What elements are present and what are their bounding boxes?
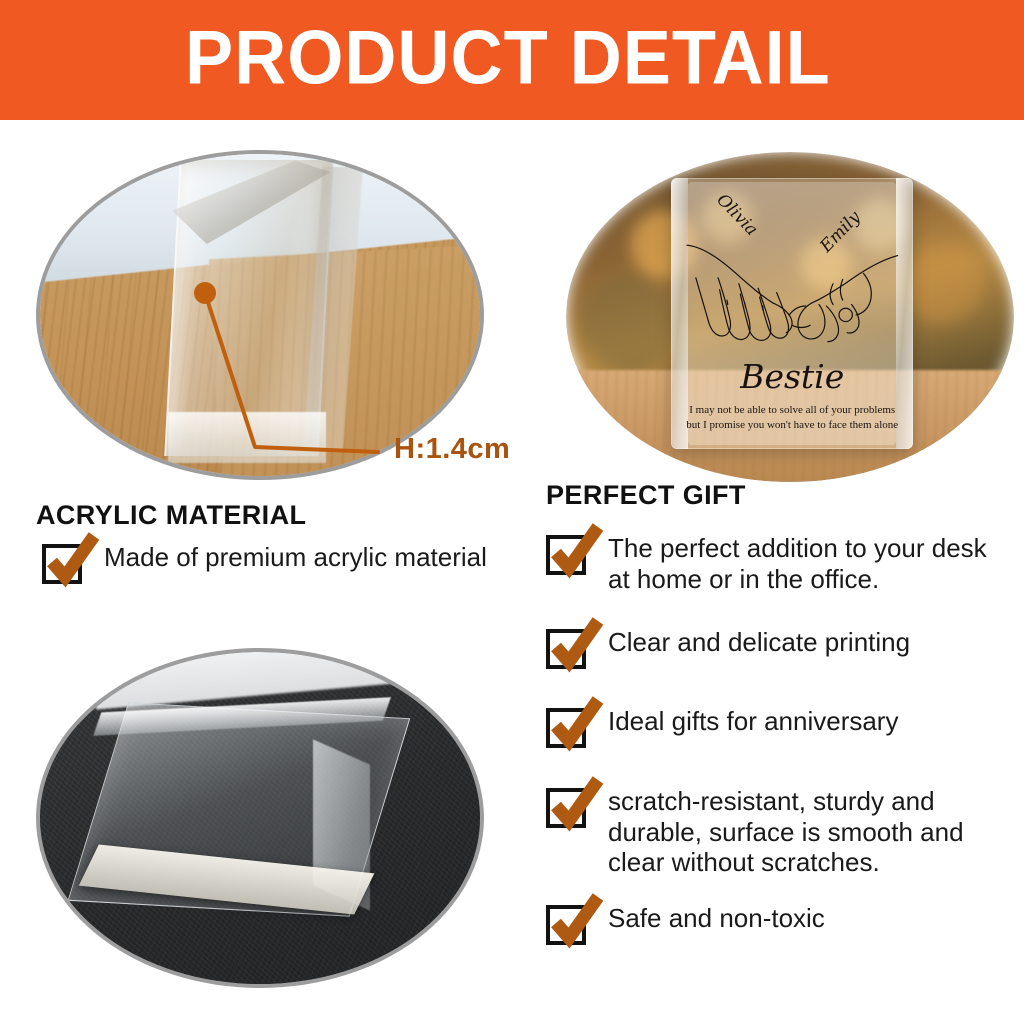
photo-inner-engraved: Olivia Emily [566,152,1014,482]
checkmark-icon [546,696,604,754]
checkbox-checked-icon [546,905,586,945]
engraved-quote-line-1: I may not be able to solve all of your p… [679,403,906,418]
checkbox-checked-icon [546,535,586,575]
section-heading-perfect-gift: PERFECT GIFT [546,480,746,511]
list-item: Made of premium acrylic material [42,542,532,584]
engraved-scene: Olivia Emily [566,152,1014,482]
section-heading-acrylic-material: ACRYLIC MATERIAL [36,500,306,531]
engraved-block: Olivia Emily [671,178,913,449]
list-item-label: scratch-resistant, sturdy and durable, s… [608,786,1016,878]
header-banner: PRODUCT DETAIL [0,0,1024,120]
product-detail-infographic: PRODUCT DETAIL H:1.4cm [0,0,1024,1024]
list-item-label: Ideal gifts for anniversary [608,706,898,737]
list-item: Safe and non-toxic [546,903,1006,945]
checkmark-icon [546,523,604,581]
checkbox-checked-icon [546,708,586,748]
wood-scene [40,154,480,476]
list-item-label: Safe and non-toxic [608,903,825,934]
engraved-quote-line-2: but I promise you won't have to face the… [679,418,906,433]
list-item-label: Made of premium acrylic material [104,542,487,573]
checkbox-checked-icon [42,544,82,584]
checkmark-icon [546,776,604,834]
engraved-acrylic-block-photo: Olivia Emily [566,152,1014,482]
linked-pinky-hands-icon [681,211,904,379]
list-item: scratch-resistant, sturdy and durable, s… [546,786,1016,878]
acrylic-block-on-slate-photo [36,648,484,988]
engraved-quote: I may not be able to solve all of your p… [679,403,906,433]
photo-inner-wood [40,154,480,476]
photo-inner-slate [40,652,480,984]
list-item: Ideal gifts for anniversary [546,706,1006,748]
checkmark-icon [546,617,604,675]
list-item-label: The perfect addition to your desk at hom… [608,533,1006,594]
checkmark-icon [42,532,100,590]
checkbox-checked-icon [546,788,586,828]
checkmark-icon [546,893,604,951]
acrylic-block-base-highlight [168,412,326,464]
acrylic-block-on-wood-photo [36,150,484,480]
checkbox-checked-icon [546,629,586,669]
slate-scene [40,652,480,984]
page-title: PRODUCT DETAIL [168,20,848,96]
list-item-label: Clear and delicate printing [608,627,910,658]
list-item: The perfect addition to your desk at hom… [546,533,1006,594]
list-item: Clear and delicate printing [546,627,1006,669]
engraved-script-title: Bestie [671,360,913,393]
